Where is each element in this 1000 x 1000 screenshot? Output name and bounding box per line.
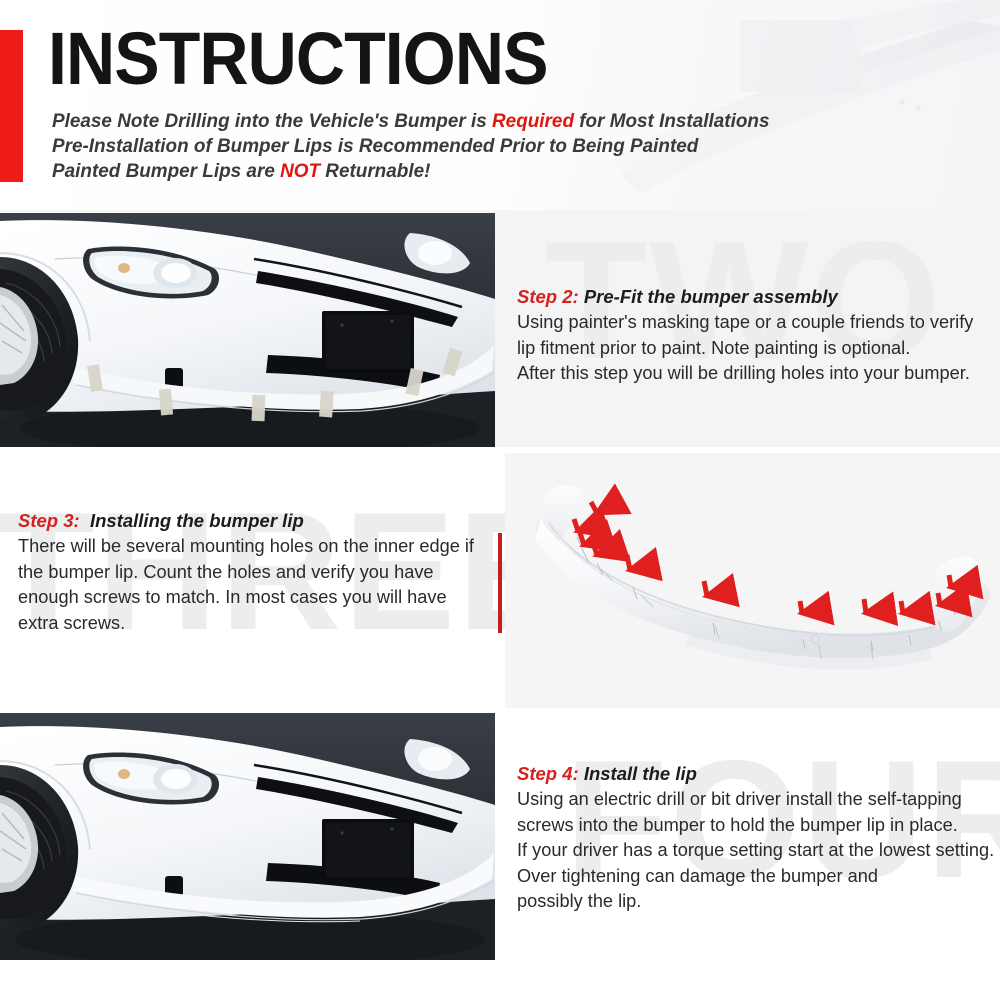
photo-step2 bbox=[0, 213, 495, 447]
step2-heading: Step 2: Pre-Fit the bumper assembly bbox=[517, 284, 999, 309]
step4-label: Step 4: bbox=[517, 763, 579, 784]
textblock-step2: Step 2: Pre-Fit the bumper assembly Usin… bbox=[517, 284, 999, 387]
step4-heading: Step 4: Install the lip bbox=[517, 761, 999, 786]
header-red-accent-bar bbox=[0, 30, 23, 182]
civic-front-photo-step2 bbox=[0, 213, 495, 447]
step2-label: Step 2: bbox=[517, 286, 579, 307]
step2-line-3: After this step you will be drilling hol… bbox=[517, 361, 999, 387]
bumper-lip-diagram bbox=[505, 453, 1000, 708]
header-note-1: Please Note Drilling into the Vehicle's … bbox=[52, 109, 954, 134]
step2-line-1: Using painter's masking tape or a couple… bbox=[517, 310, 999, 336]
step3-line-1: There will be several mounting holes on … bbox=[18, 534, 488, 560]
section-divider-red bbox=[498, 533, 502, 633]
step4-line-3: If your driver has a torque setting star… bbox=[517, 838, 999, 864]
step3-line-4: extra screws. bbox=[18, 611, 488, 637]
step2-title: Pre-Fit the bumper assembly bbox=[584, 286, 838, 307]
step4-line-4: Over tightening can damage the bumper an… bbox=[517, 864, 999, 890]
header-banner: INSTRUCTIONS Please Note Drilling into t… bbox=[0, 0, 1000, 210]
section-step2: TWO bbox=[0, 210, 1000, 447]
step4-body: Using an electric drill or bit driver in… bbox=[517, 787, 999, 915]
section-step4: FOUR bbox=[0, 713, 1000, 1000]
textblock-step4: Step 4: Install the lip Using an electri… bbox=[517, 761, 999, 915]
header-notes: Please Note Drilling into the Vehicle's … bbox=[52, 109, 982, 184]
note-emphasis-not: NOT bbox=[280, 160, 320, 182]
photo-step4 bbox=[0, 713, 495, 960]
step3-label: Step 3: bbox=[18, 510, 80, 531]
step3-line-2: the bumper lip. Count the holes and veri… bbox=[18, 560, 488, 586]
step3-title: Installing the bumper lip bbox=[90, 510, 304, 531]
header-note-2: Pre-Installation of Bumper Lips is Recom… bbox=[52, 134, 954, 159]
step3-line-3: enough screws to match. In most cases yo… bbox=[18, 585, 488, 611]
step2-body: Using painter's masking tape or a couple… bbox=[517, 310, 999, 387]
step4-line-1: Using an electric drill or bit driver in… bbox=[517, 787, 999, 813]
note-emphasis-required: Required bbox=[492, 110, 574, 132]
step2-line-2: lip fitment prior to paint. Note paintin… bbox=[517, 336, 999, 362]
header-note-3: Painted Bumper Lips are NOT Returnable! bbox=[52, 159, 954, 184]
step4-title: Install the lip bbox=[584, 763, 697, 784]
step4-line-5: possibly the lip. bbox=[517, 889, 999, 915]
civic-front-photo-step4 bbox=[0, 713, 495, 960]
step3-body: There will be several mounting holes on … bbox=[18, 534, 488, 636]
step4-line-2: screws into the bumper to hold the bumpe… bbox=[517, 813, 999, 839]
instruction-sheet: INSTRUCTIONS Please Note Drilling into t… bbox=[0, 0, 1000, 1000]
photo-step3 bbox=[505, 453, 1000, 708]
step3-heading: Step 3: Installing the bumper lip bbox=[18, 508, 488, 533]
page-title: INSTRUCTIONS bbox=[48, 22, 548, 96]
section-step3: THREE Step 3: Installing the bumper lip … bbox=[0, 447, 1000, 713]
textblock-step3: Step 3: Installing the bumper lip There … bbox=[18, 508, 488, 636]
